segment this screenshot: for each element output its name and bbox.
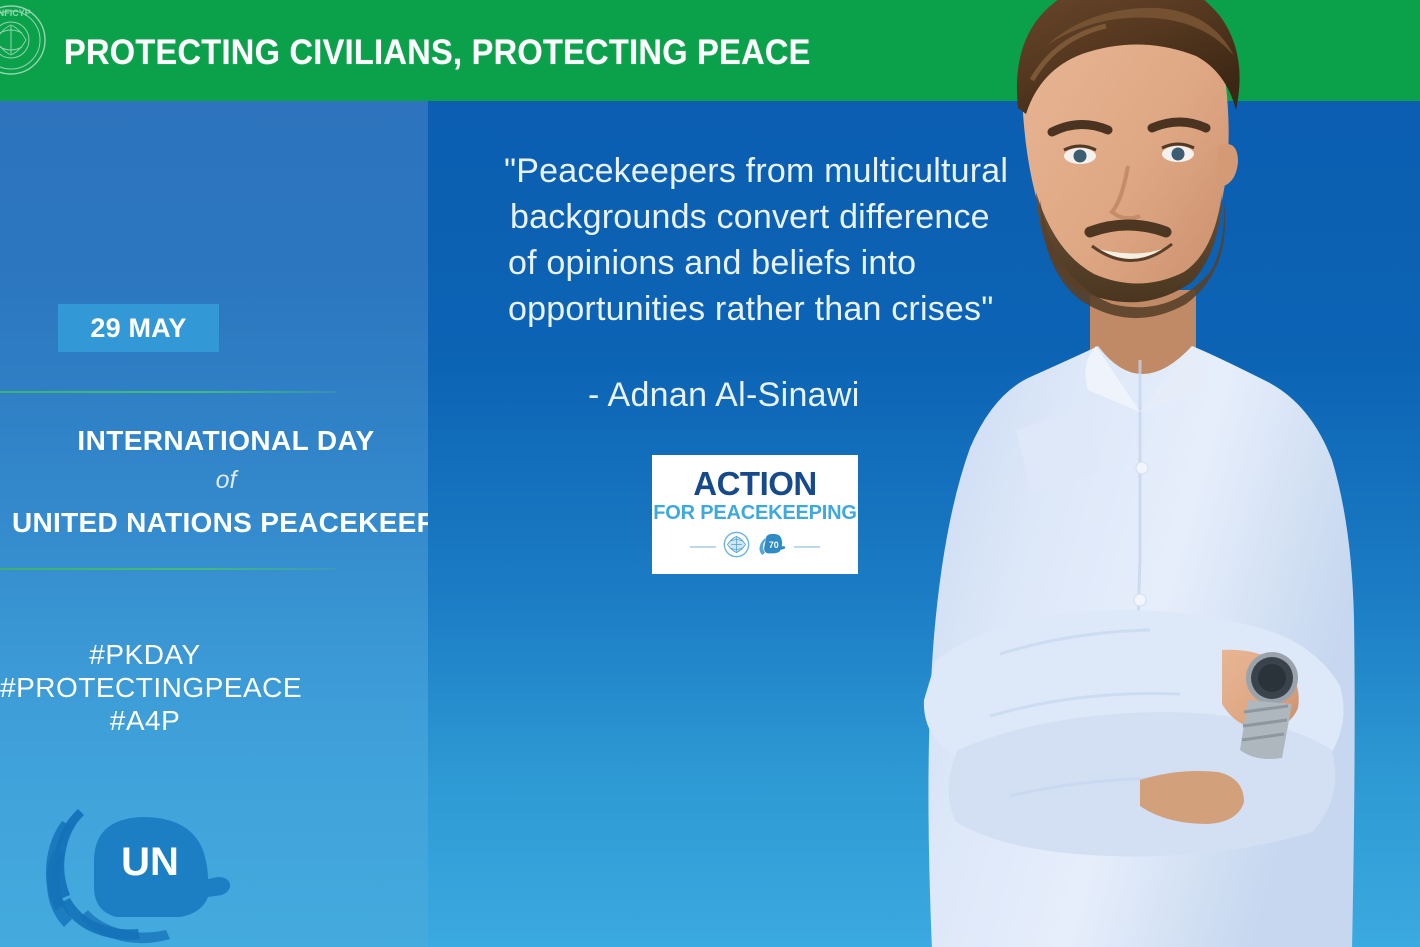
hashtag-a4p: #A4P — [0, 704, 290, 737]
unficyp-seal-icon: UNFICYP — [0, 3, 48, 77]
occasion-line-1: INTERNATIONAL DAY — [12, 425, 428, 457]
a4p-emblem-row: 70 — [652, 531, 858, 563]
right-content-panel: "Peacekeepers from multicultural backgro… — [428, 101, 1420, 947]
quote-line-2: backgrounds convert difference — [510, 194, 1106, 240]
hashtag-pkday: #PKDAY — [0, 638, 290, 671]
svg-text:UNFICYP: UNFICYP — [0, 8, 31, 18]
quote-line-4: opportunities rather than crises" — [508, 286, 1106, 332]
hashtag-block: #PKDAY #PROTECTINGPEACE #A4P — [0, 638, 290, 737]
quote-line-1: "Peacekeepers from multicultural — [504, 148, 1106, 194]
a4p-rule-right — [794, 546, 820, 548]
header-band: PROTECTING CIVILIANS, PROTECTING PEACE — [0, 0, 1420, 101]
body-area: 29 MAY INTERNATIONAL DAY of UNITED NATIO… — [0, 101, 1420, 947]
quote-attribution: - Adnan Al-Sinawi — [588, 376, 860, 415]
hashtag-protectingpeace: #PROTECTINGPEACE — [0, 671, 290, 704]
un-emblem-icon — [723, 531, 750, 563]
a4p-logo-line-2: FOR PEACEKEEPING — [653, 502, 857, 524]
svg-text:70: 70 — [769, 540, 779, 550]
a4p-rule-left — [690, 546, 716, 548]
quote-line-3: of opinions and beliefs into — [508, 240, 1106, 286]
occasion-line-2: UNITED NATIONS PEACEKEEPERS — [12, 507, 428, 539]
a4p-logo: ACTION FOR PEACEKEEPING — [652, 455, 858, 574]
divider-bottom — [0, 568, 336, 570]
un-peacekeeping-helmet-icon: UN — [32, 791, 248, 947]
occasion-connector: of — [12, 466, 428, 495]
peacekeeping-70-icon: 70 — [757, 531, 787, 563]
left-info-panel: 29 MAY INTERNATIONAL DAY of UNITED NATIO… — [0, 101, 428, 947]
date-badge: 29 MAY — [58, 304, 219, 352]
a4p-logo-line-1: ACTION — [693, 467, 817, 501]
un-logo-label: UN — [121, 840, 179, 884]
date-badge-label: 29 MAY — [90, 313, 186, 344]
poster-canvas: PROTECTING CIVILIANS, PROTECTING PEACE U… — [0, 0, 1420, 947]
page-title: PROTECTING CIVILIANS, PROTECTING PEACE — [64, 33, 811, 73]
divider-top — [0, 391, 336, 393]
quote-text: "Peacekeepers from multicultural backgro… — [496, 148, 1106, 332]
